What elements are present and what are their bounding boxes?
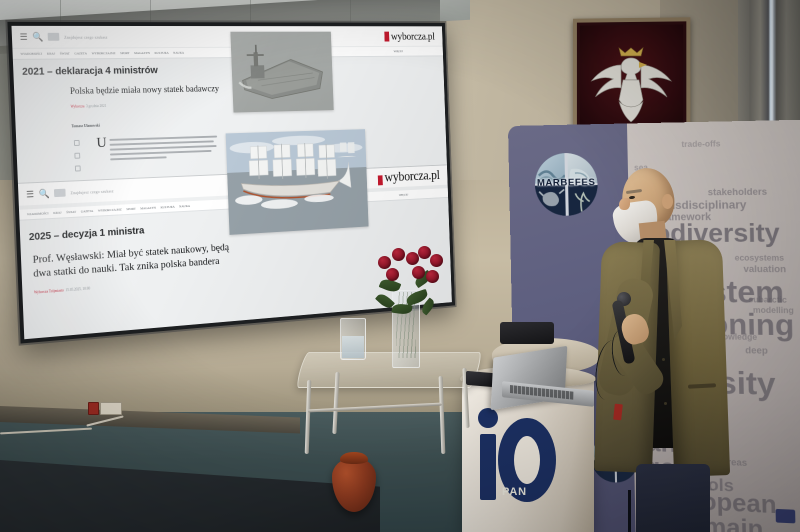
- word-cloud-term: trade-offs: [681, 140, 720, 149]
- article-byline-bottom: Wyborcza Trójmiasto 15.05.2025, 10:00: [34, 287, 90, 295]
- slide-section-label-top: 2021 – deklaracja 4 ministrów: [22, 64, 158, 77]
- hamburger-menu-icon[interactable]: ☰: [20, 32, 28, 41]
- facebook-icon[interactable]: [74, 153, 80, 159]
- article-author-top: Tomasz Ulanowski: [71, 124, 100, 129]
- article-body-text: [109, 136, 218, 163]
- nav-item[interactable]: WIADOMOŚCI: [20, 52, 42, 56]
- rose-bouquet: [362, 240, 454, 324]
- presentation-room-photo: ☰ 🔍 Znajdujesz czego szukasz wyborcza.pl…: [0, 0, 800, 532]
- site-header-top: ☰ 🔍 Znajdujesz czego szukasz wyborcza.pl: [11, 26, 442, 48]
- io-pan-logo: PAN: [476, 408, 556, 504]
- power-outlet-red: [88, 402, 99, 415]
- nav-item[interactable]: SPORT: [120, 51, 130, 55]
- glass-side-table: [300, 352, 482, 476]
- nav-item[interactable]: WYBORCZA.BIZ: [92, 51, 116, 55]
- rose-bloom: [386, 268, 399, 281]
- nav-item[interactable]: GAZETA: [74, 51, 87, 55]
- slide-section-label-bottom: 2025 – decyzja 1 ministra: [29, 225, 145, 243]
- polish-eagle-emblem: [573, 17, 690, 138]
- eu-funding-badges: [776, 509, 800, 525]
- article-byline-top: Wyborcza 3 grudnia 2021: [71, 104, 107, 109]
- wyborcza-wordmark: wyborcza.pl: [391, 31, 435, 42]
- rose-bloom: [378, 256, 391, 269]
- nav-item[interactable]: NAUKA: [179, 204, 190, 208]
- nav-item[interactable]: KRAJ: [47, 52, 55, 56]
- nav-item[interactable]: KULTURA: [154, 51, 168, 55]
- table-glass-top: [295, 352, 483, 388]
- presenter-nose: [619, 198, 630, 210]
- nav-item[interactable]: NAUKA: [173, 51, 184, 55]
- share-icon[interactable]: [74, 140, 80, 146]
- nav-item[interactable]: MAGAZYN: [134, 51, 150, 55]
- nav-item[interactable]: MAGAZYN: [140, 206, 156, 211]
- aircraft-carrier-image: [230, 32, 333, 113]
- nav-item[interactable]: KRAJ: [53, 211, 61, 215]
- nav-item[interactable]: GAZETA: [81, 209, 94, 214]
- nav-item[interactable]: WIADOMOŚCI: [27, 211, 49, 216]
- power-outlet: [100, 402, 122, 415]
- search-hint: Znajdujesz czego szukasz: [70, 188, 113, 195]
- laptop-keyboard[interactable]: [510, 385, 574, 400]
- table-rail: [308, 402, 442, 412]
- wyborcza-brand-bottom: wyborcza.pl: [378, 168, 448, 185]
- article-headline-bottom: Prof. Węsławski: Miał być statek naukowy…: [32, 240, 241, 281]
- nav-item[interactable]: ŚWIAT: [60, 52, 70, 56]
- word-cloud-term: modelling: [753, 307, 794, 316]
- jacket-button: [664, 402, 667, 405]
- twitter-icon[interactable]: [75, 165, 81, 171]
- rose-bloom: [418, 246, 431, 259]
- nav-item[interactable]: WYBORCZA.BIZ: [98, 208, 122, 213]
- nav-item[interactable]: ŚWIAT: [66, 210, 76, 214]
- wyborcza-wordmark: wyborcza.pl: [384, 169, 440, 185]
- hamburger-menu-icon[interactable]: ☰: [26, 190, 34, 199]
- subscription-badge-icon: [48, 33, 60, 41]
- eu-flag-badge-icon: [776, 509, 796, 524]
- av-equipment-box: [500, 322, 554, 344]
- nav-item[interactable]: SPORT: [126, 207, 136, 211]
- rose-bloom: [406, 252, 419, 265]
- word-cloud-term: ecosystems: [735, 254, 785, 262]
- eagle-icon: [584, 31, 679, 128]
- presenter-clicker[interactable]: [466, 371, 494, 387]
- search-hint: Znajdujesz czego szukasz: [64, 34, 107, 39]
- word-cloud-term: deep: [745, 346, 768, 356]
- wyborcza-brand-top: wyborcza.pl: [384, 31, 442, 42]
- article-headline-top: Polska będzie miała nowy statek badawczy: [70, 84, 259, 99]
- article-dropcap: U: [96, 137, 107, 149]
- search-icon[interactable]: 🔍: [39, 189, 50, 198]
- word-cloud-term: valuation: [743, 265, 786, 275]
- subscription-badge-icon: [54, 189, 66, 197]
- io-pan-acronym: PAN: [502, 486, 527, 498]
- search-icon[interactable]: 🔍: [32, 32, 43, 41]
- presenter-ear: [662, 194, 673, 209]
- share-buttons-column[interactable]: [74, 140, 81, 178]
- rose-bloom: [426, 270, 439, 283]
- presenter-trouser-seam: [628, 490, 631, 532]
- nav-more[interactable]: WIĘCEJ: [399, 193, 408, 197]
- rose-bloom: [430, 254, 443, 267]
- ceramic-vase-neck: [340, 452, 368, 464]
- rose-bloom: [392, 248, 405, 261]
- jacket-button: [662, 358, 665, 361]
- wyborcza-mark-icon: [384, 32, 389, 42]
- nav-more[interactable]: WIĘCEJ: [394, 49, 404, 53]
- water-glass: [340, 318, 366, 360]
- presenter-lanyard-badge: [613, 404, 623, 421]
- tall-ship-image: [226, 129, 369, 235]
- wyborcza-mark-icon: [378, 175, 383, 185]
- table-leg: [305, 380, 312, 454]
- presenter-trousers: [636, 464, 710, 532]
- rose-bloom: [412, 266, 425, 279]
- word-cloud-term: subarctic: [748, 296, 787, 305]
- nav-item[interactable]: KULTURA: [160, 205, 174, 210]
